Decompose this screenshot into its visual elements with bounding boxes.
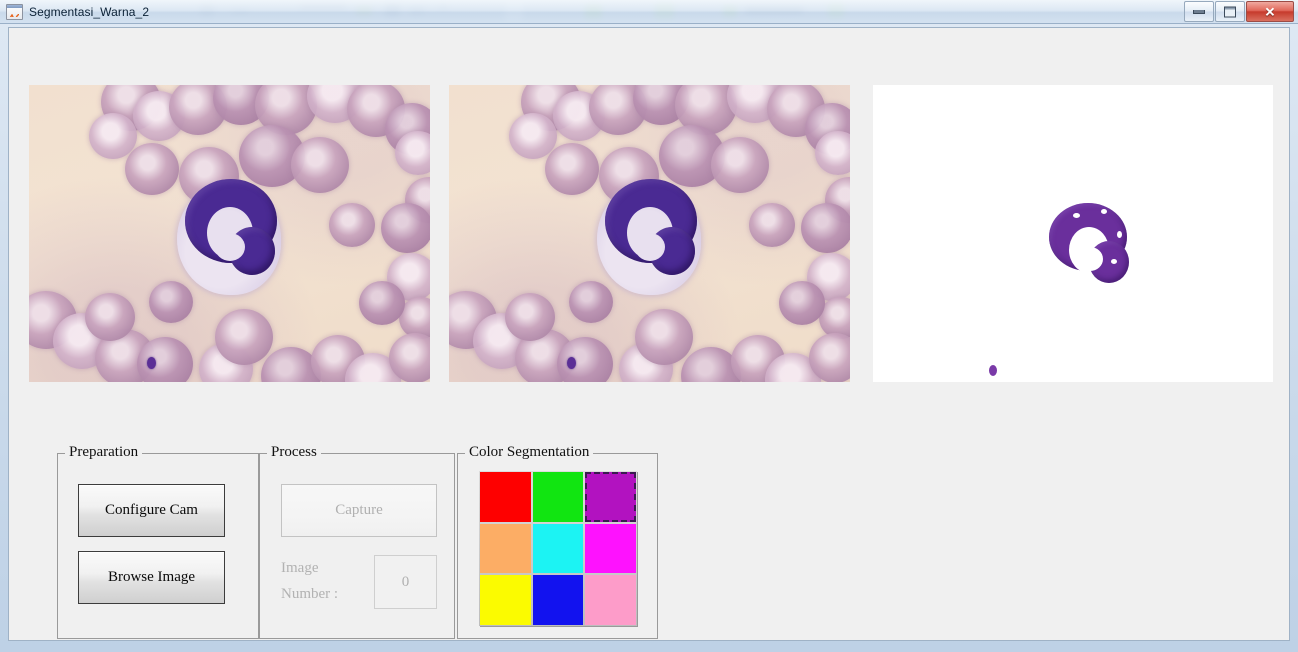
matlab-figure-icon	[6, 4, 23, 20]
preparation-panel-title: Preparation	[65, 444, 142, 461]
application-window: Segmentasi_Warna_2 ✕	[0, 0, 1298, 652]
minimize-icon	[1193, 10, 1205, 14]
swatch-cyan[interactable]	[533, 524, 584, 574]
swatch-red[interactable]	[480, 472, 531, 522]
figure-client-area: Preparation Configure Cam Browse Image P…	[8, 27, 1290, 641]
capture-button[interactable]: Capture	[281, 484, 437, 537]
color-segmentation-panel-title: Color Segmentation	[465, 444, 593, 461]
swatch-magenta[interactable]	[585, 524, 636, 574]
swatch-yellow[interactable]	[480, 575, 531, 625]
preparation-panel: Preparation	[57, 453, 259, 639]
swatch-green[interactable]	[533, 472, 584, 522]
process-panel: Process	[259, 453, 455, 639]
matlab-membrane-glyph	[8, 14, 19, 17]
maximize-button[interactable]	[1215, 1, 1245, 22]
blood-smear-background	[29, 85, 430, 382]
platelet-2	[567, 357, 576, 369]
original-image-axes[interactable]	[29, 85, 430, 382]
window-title: Segmentasi_Warna_2	[29, 5, 149, 19]
image-number-input[interactable]: 0	[374, 555, 437, 609]
browse-image-button[interactable]: Browse Image	[78, 551, 225, 604]
window-controls: ✕	[1183, 1, 1294, 22]
processed-image-axes[interactable]	[449, 85, 850, 382]
close-button[interactable]: ✕	[1246, 1, 1294, 22]
swatch-blue[interactable]	[533, 575, 584, 625]
blood-smear-background-2	[449, 85, 850, 382]
color-swatch-grid	[479, 471, 637, 626]
swatch-pink[interactable]	[585, 575, 636, 625]
image-number-label-line2: Number :	[281, 581, 369, 607]
maximize-icon	[1224, 6, 1236, 17]
image-number-label-line1: Image	[281, 555, 369, 581]
segmentation-result-axes[interactable]	[873, 85, 1273, 382]
platelet	[147, 357, 156, 369]
segmented-platelet	[989, 365, 997, 376]
process-panel-title: Process	[267, 444, 321, 461]
close-icon: ✕	[1265, 5, 1276, 18]
image-number-label: Image Number :	[281, 555, 369, 607]
minimize-button[interactable]	[1184, 1, 1214, 22]
configure-cam-button[interactable]: Configure Cam	[78, 484, 225, 537]
swatch-orange[interactable]	[480, 524, 531, 574]
window-titlebar: Segmentasi_Warna_2 ✕	[0, 0, 1298, 24]
swatch-purple[interactable]	[585, 472, 636, 522]
